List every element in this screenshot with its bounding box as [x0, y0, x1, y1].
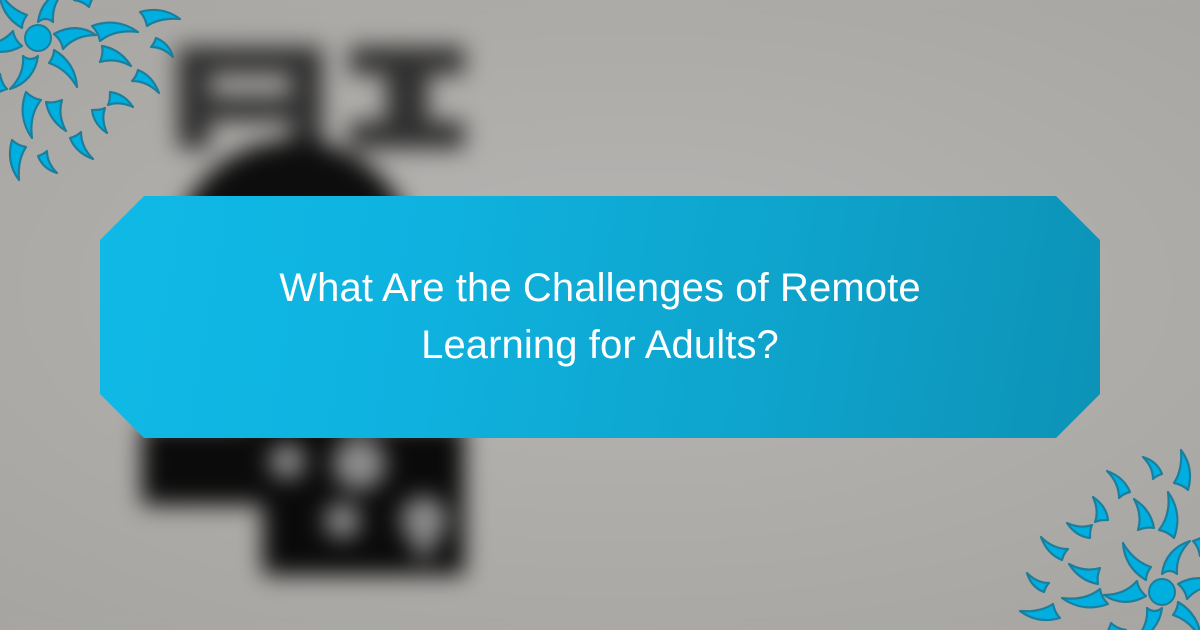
letter-i-bottom-serif [350, 121, 464, 149]
ai-wordmark-icon [172, 36, 465, 150]
share-card-canvas: What Are the Challenges of Remote Learni… [0, 0, 1200, 630]
page-title: What Are the Challenges of Remote Learni… [250, 260, 950, 374]
letter-a-crossbar [178, 96, 322, 121]
robot-highlight-dot [269, 443, 305, 479]
robot-highlight-dot [413, 537, 434, 558]
robot-highlight-dot [333, 437, 386, 490]
robot-highlight-dot [324, 503, 360, 539]
title-banner: What Are the Challenges of Remote Learni… [100, 196, 1100, 438]
